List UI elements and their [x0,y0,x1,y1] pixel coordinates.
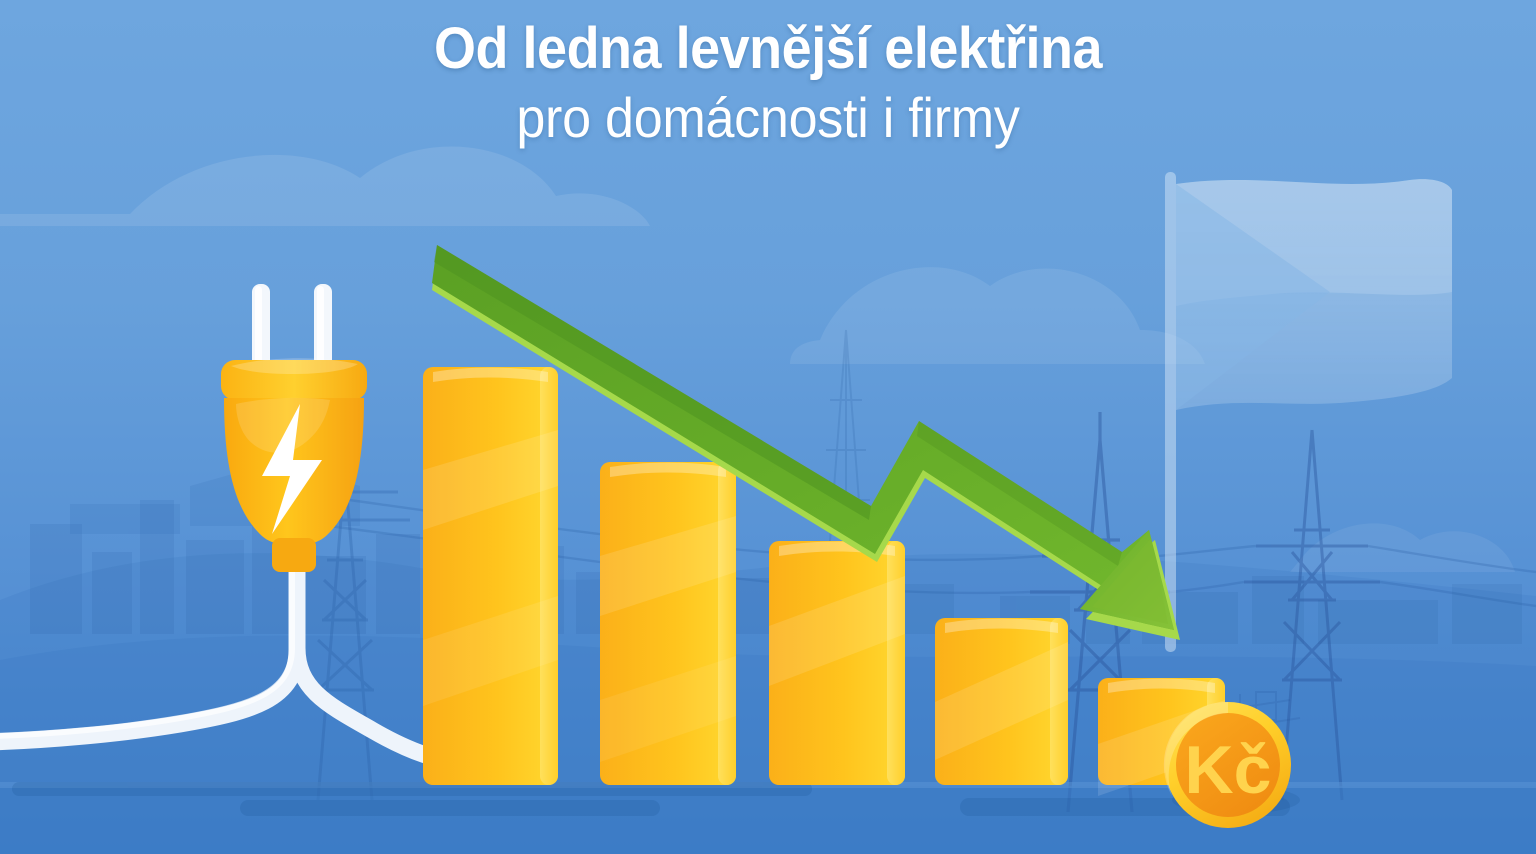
poster-canvas: Kč Od ledna levnější elektřina pro domác… [0,0,1536,854]
coin-kc-icon: Kč [1164,702,1300,828]
plug-cable-highlight [0,528,292,736]
bar-1 [423,367,558,785]
bar-3 [769,541,905,785]
foreground-artwork: Kč [0,0,1536,854]
coin-currency-label: Kč [1185,732,1272,808]
bar-4 [935,618,1068,785]
bar-2 [600,462,736,785]
plug-neck [272,538,316,572]
